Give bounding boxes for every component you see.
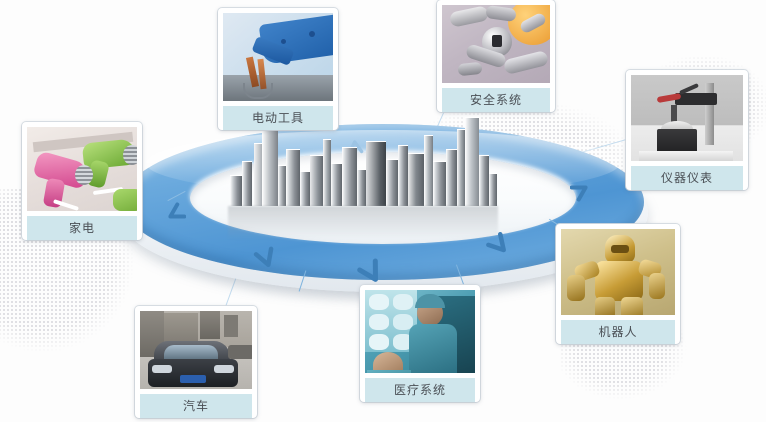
card-home-appliance[interactable]: 家电 xyxy=(22,122,142,240)
robot-photo xyxy=(561,229,675,315)
medical-photo xyxy=(365,290,475,373)
card-power-tools[interactable]: 电动工具 xyxy=(218,8,338,130)
card-label-home-appliance: 家电 xyxy=(27,216,137,240)
card-label-instruments: 仪器仪表 xyxy=(631,166,743,190)
hairdryer-photo xyxy=(27,127,137,211)
instrument-photo xyxy=(631,75,743,161)
city-skyline-icon xyxy=(228,128,498,240)
card-label-medical: 医疗系统 xyxy=(365,378,475,402)
card-medical[interactable]: 医疗系统 xyxy=(360,285,480,402)
card-label-automobile: 汽车 xyxy=(140,394,252,418)
card-label-power-tools: 电动工具 xyxy=(223,106,333,130)
card-label-robot: 机器人 xyxy=(561,320,675,344)
card-instruments[interactable]: 仪器仪表 xyxy=(626,70,748,190)
skyline-reflection xyxy=(228,206,498,240)
card-automobile[interactable]: 汽车 xyxy=(135,306,257,418)
card-robot[interactable]: 机器人 xyxy=(556,224,680,344)
card-label-security: 安全系统 xyxy=(442,88,550,112)
card-security[interactable]: 安全系统 xyxy=(437,0,555,112)
security-lock-photo xyxy=(442,5,550,83)
power-tool-photo xyxy=(223,13,333,101)
car-photo xyxy=(140,311,252,389)
infographic-canvas: 电动工具 安全系统 仪器仪表 xyxy=(0,0,766,422)
